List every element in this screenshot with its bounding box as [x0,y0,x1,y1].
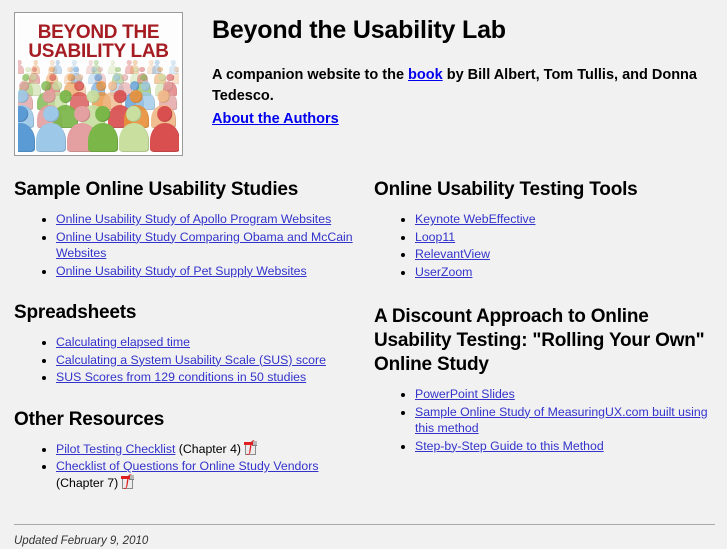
list-item: Online Usability Study of Apollo Program… [56,211,369,228]
section-discount-approach: A Discount Approach to Online Usability … [374,305,724,454]
list-item: Online Usability Study of Pet Supply Web… [56,263,369,280]
book-link[interactable]: book [408,67,443,83]
book-cover-image: BEYOND THE USABILITY LAB [14,12,183,156]
header-text-block: Beyond the Usability Lab A companion web… [183,12,727,130]
link[interactable]: Loop11 [415,230,455,244]
chapter-label: (Chapter 7) [56,476,118,490]
link-list: Keynote WebEffective Loop11 RelevantView… [374,211,724,280]
list-item: Calculating elapsed time [56,334,369,351]
section-heading: Spreadsheets [14,301,369,325]
page-title: Beyond the Usability Lab [212,16,727,45]
link[interactable]: Online Usability Study Comparing Obama a… [56,230,353,261]
list-item: SUS Scores from 129 conditions in 50 stu… [56,369,369,386]
section-sample-online-usability-studies: Sample Online Usability Studies Online U… [14,178,369,279]
section-online-usability-testing-tools: Online Usability Testing Tools Keynote W… [374,178,724,280]
list-item: Loop11 [415,229,724,246]
link[interactable]: Keynote WebEffective [415,212,536,226]
link[interactable]: Checklist of Questions for Online Study … [56,459,318,473]
link[interactable]: Calculating elapsed time [56,335,190,349]
link[interactable]: Calculating a System Usability Scale (SU… [56,353,326,367]
list-item: UserZoom [415,264,724,281]
tagline: A companion website to the book by Bill … [212,65,702,107]
link-list: Pilot Testing Checklist (Chapter 4)∫ Che… [14,441,369,492]
link[interactable]: Pilot Testing Checklist [56,442,175,456]
section-spreadsheets: Spreadsheets Calculating elapsed time Ca… [14,301,369,386]
content-columns: Sample Online Usability Studies Online U… [0,178,727,492]
book-cover-inner: BEYOND THE USABILITY LAB [18,16,179,152]
pdf-icon[interactable]: ∫ [121,475,134,490]
pdf-icon[interactable]: ∫ [244,441,257,456]
book-cover-crowd-illustration [18,56,179,152]
link[interactable]: Step-by-Step Guide to this Method [415,439,604,453]
link[interactable]: Online Usability Study of Pet Supply Web… [56,264,307,278]
updated-text: Updated February 9, 2010 [14,534,148,549]
link[interactable]: Sample Online Study of MeasuringUX.com b… [415,405,708,436]
page-header: BEYOND THE USABILITY LAB Beyond the Usab… [0,0,727,156]
footer-divider [14,524,715,525]
link-list: PowerPoint Slides Sample Online Study of… [374,386,724,454]
list-item: Calculating a System Usability Scale (SU… [56,352,369,369]
section-heading: Other Resources [14,408,369,432]
section-heading: A Discount Approach to Online Usability … [374,305,724,377]
list-item: Keynote WebEffective [415,211,724,228]
chapter-label: (Chapter 4) [175,442,241,456]
list-item: Online Usability Study Comparing Obama a… [56,229,369,262]
about-the-authors-link[interactable]: About the Authors [212,109,339,130]
list-item: PowerPoint Slides [415,386,724,403]
link[interactable]: RelevantView [415,247,490,261]
list-item: Checklist of Questions for Online Study … [56,458,369,491]
link[interactable]: PowerPoint Slides [415,387,515,401]
left-column: Sample Online Usability Studies Online U… [14,178,369,492]
list-item: Pilot Testing Checklist (Chapter 4)∫ [56,441,369,458]
right-column: Online Usability Testing Tools Keynote W… [369,178,724,492]
list-item: Sample Online Study of MeasuringUX.com b… [415,404,724,437]
link[interactable]: SUS Scores from 129 conditions in 50 stu… [56,370,306,384]
section-heading: Sample Online Usability Studies [14,178,369,202]
link-list: Calculating elapsed time Calculating a S… [14,334,369,386]
list-item: RelevantView [415,246,724,263]
list-item: Step-by-Step Guide to this Method [415,438,724,455]
link[interactable]: Online Usability Study of Apollo Program… [56,212,331,226]
link-list: Online Usability Study of Apollo Program… [14,211,369,279]
link[interactable]: UserZoom [415,265,472,279]
tagline-part1: A companion website to the [212,67,408,83]
section-other-resources: Other Resources Pilot Testing Checklist … [14,408,369,492]
section-heading: Online Usability Testing Tools [374,178,724,202]
